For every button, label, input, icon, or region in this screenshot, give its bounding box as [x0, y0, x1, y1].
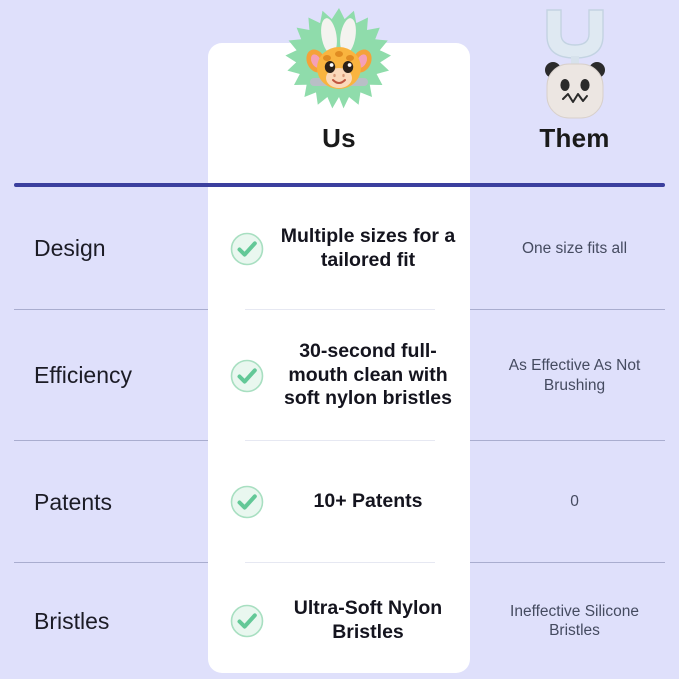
- row-them-text: One size fits all: [484, 239, 665, 258]
- row-us-cell: 30-second full-mouth clean with soft nyl…: [208, 340, 470, 411]
- comparison-header: Us: [0, 0, 679, 183]
- header-label-them: Them: [470, 125, 679, 151]
- row-them-text: As Effective As Not Brushing: [484, 356, 665, 395]
- giraffe-badge-image: [284, 6, 394, 116]
- u-shaped-toothbrush-image: [527, 6, 623, 124]
- row-feature-label: Efficiency: [0, 362, 208, 389]
- comparison-rows: Design Multiple sizes for a tailored fit…: [0, 187, 679, 679]
- row-them-cell: As Effective As Not Brushing: [470, 356, 679, 395]
- header-divider-rule: [14, 183, 665, 187]
- row-us-text: Ultra-Soft Nylon Bristles: [276, 597, 460, 645]
- giraffe-badge-svg: [284, 6, 394, 116]
- check-icon: [230, 485, 264, 519]
- row-us-text: 30-second full-mouth clean with soft nyl…: [276, 340, 460, 411]
- table-row: Patents 10+ Patents 0: [0, 441, 679, 563]
- table-row: Design Multiple sizes for a tailored fit…: [0, 187, 679, 310]
- table-row: Efficiency 30-second full-mouth clean wi…: [0, 310, 679, 441]
- check-icon: [230, 604, 264, 638]
- row-us-cell: Ultra-Soft Nylon Bristles: [208, 597, 470, 645]
- row-feature-label: Patents: [0, 489, 208, 516]
- check-icon: [230, 359, 264, 393]
- row-us-cell: Multiple sizes for a tailored fit: [208, 225, 470, 273]
- comparison-table-page: Us: [0, 0, 679, 679]
- row-them-text: 0: [484, 492, 665, 511]
- header-column-them: Them: [470, 0, 679, 151]
- toothbrush-svg: [527, 6, 623, 124]
- row-them-cell: 0: [470, 492, 679, 511]
- row-us-text: Multiple sizes for a tailored fit: [276, 225, 460, 273]
- check-icon: [230, 232, 264, 266]
- row-them-cell: One size fits all: [470, 239, 679, 258]
- header-column-us: Us: [208, 0, 470, 151]
- row-feature-label: Bristles: [0, 608, 208, 635]
- row-us-text: 10+ Patents: [276, 490, 460, 514]
- row-us-cell: 10+ Patents: [208, 485, 470, 519]
- header-label-us: Us: [208, 125, 470, 151]
- row-feature-label: Design: [0, 235, 208, 262]
- row-them-cell: Ineffective Silicone Bristles: [470, 602, 679, 641]
- us-header-artwork: [208, 0, 470, 125]
- table-row: Bristles Ultra-Soft Nylon Bristles Ineff…: [0, 563, 679, 679]
- row-them-text: Ineffective Silicone Bristles: [484, 602, 665, 641]
- them-header-artwork: [470, 0, 679, 125]
